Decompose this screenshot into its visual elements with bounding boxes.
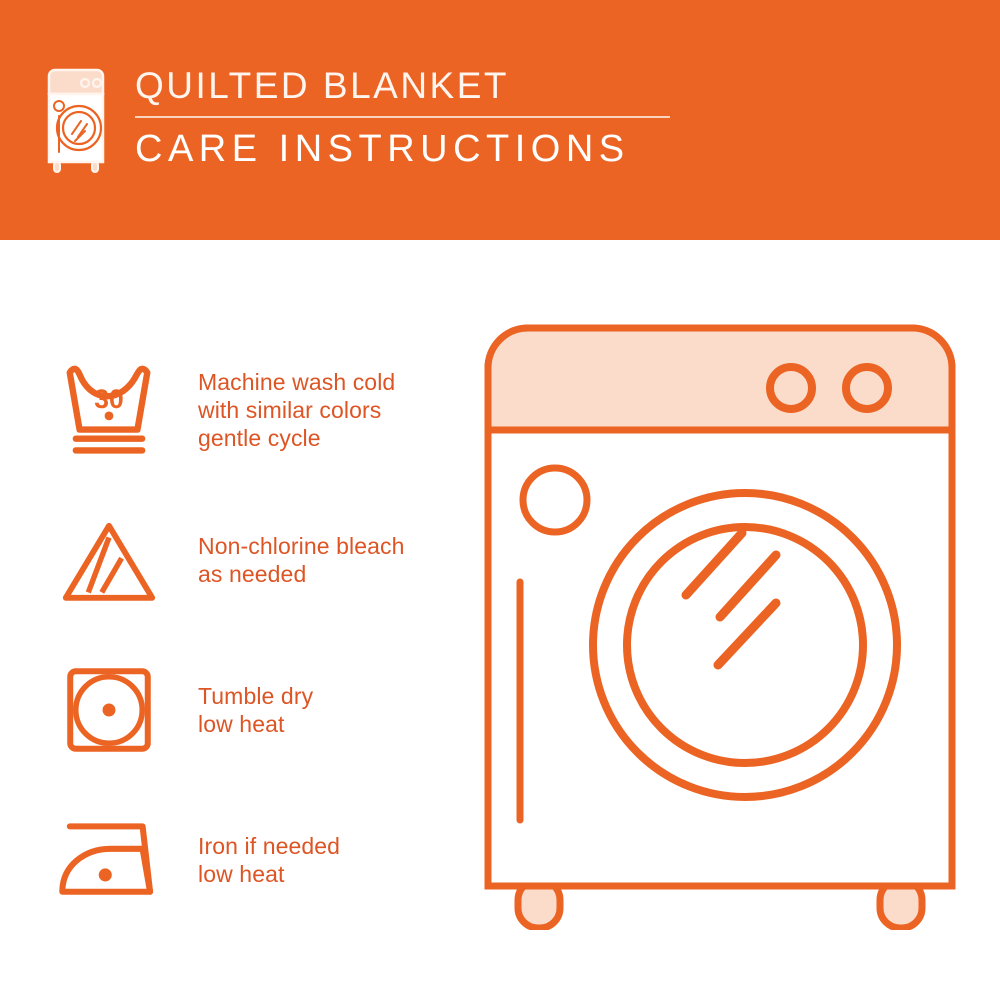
title-divider bbox=[135, 116, 670, 118]
bleach-triangle-icon bbox=[50, 505, 168, 615]
care-row-wash: 30 Machine wash cold with similar colors… bbox=[50, 335, 470, 485]
care-label-line: low heat bbox=[198, 860, 340, 888]
care-row-iron: Iron if needed low heat bbox=[50, 785, 470, 935]
care-label-bleach: Non-chlorine bleach as needed bbox=[198, 532, 404, 588]
front-load-washing-machine bbox=[480, 320, 960, 930]
care-row-bleach: Non-chlorine bleach as needed bbox=[50, 485, 470, 635]
page-header: QUILTED BLANKET CARE INSTRUCTIONS bbox=[0, 0, 1000, 240]
care-label-line: Non-chlorine bleach bbox=[198, 532, 404, 560]
header-content: QUILTED BLANKET CARE INSTRUCTIONS bbox=[45, 62, 670, 176]
tumble-dry-icon bbox=[50, 655, 168, 765]
page-body: 30 Machine wash cold with similar colors… bbox=[0, 240, 1000, 1000]
care-label-line: Tumble dry bbox=[198, 682, 313, 710]
care-label-line: gentle cycle bbox=[198, 424, 395, 452]
iron-icon bbox=[50, 805, 168, 915]
page-subtitle: CARE INSTRUCTIONS bbox=[135, 127, 670, 171]
svg-text:30: 30 bbox=[94, 384, 123, 414]
header-titles: QUILTED BLANKET CARE INSTRUCTIONS bbox=[135, 62, 670, 171]
care-instruction-list: 30 Machine wash cold with similar colors… bbox=[50, 335, 470, 935]
care-label-line: as needed bbox=[198, 560, 404, 588]
care-label-line: with similar colors bbox=[198, 396, 395, 424]
care-label-iron: Iron if needed low heat bbox=[198, 832, 340, 888]
care-label-line: Iron if needed bbox=[198, 832, 340, 860]
care-label-line: Machine wash cold bbox=[198, 368, 395, 396]
care-label-line: low heat bbox=[198, 710, 313, 738]
care-row-tumble-dry: Tumble dry low heat bbox=[50, 635, 470, 785]
care-label-wash: Machine wash cold with similar colors ge… bbox=[198, 368, 395, 452]
page-title: QUILTED BLANKET bbox=[135, 64, 670, 108]
care-label-tumble-dry: Tumble dry low heat bbox=[198, 682, 313, 738]
wash-tub-icon: 30 bbox=[50, 355, 168, 465]
washing-machine-icon bbox=[45, 66, 107, 176]
